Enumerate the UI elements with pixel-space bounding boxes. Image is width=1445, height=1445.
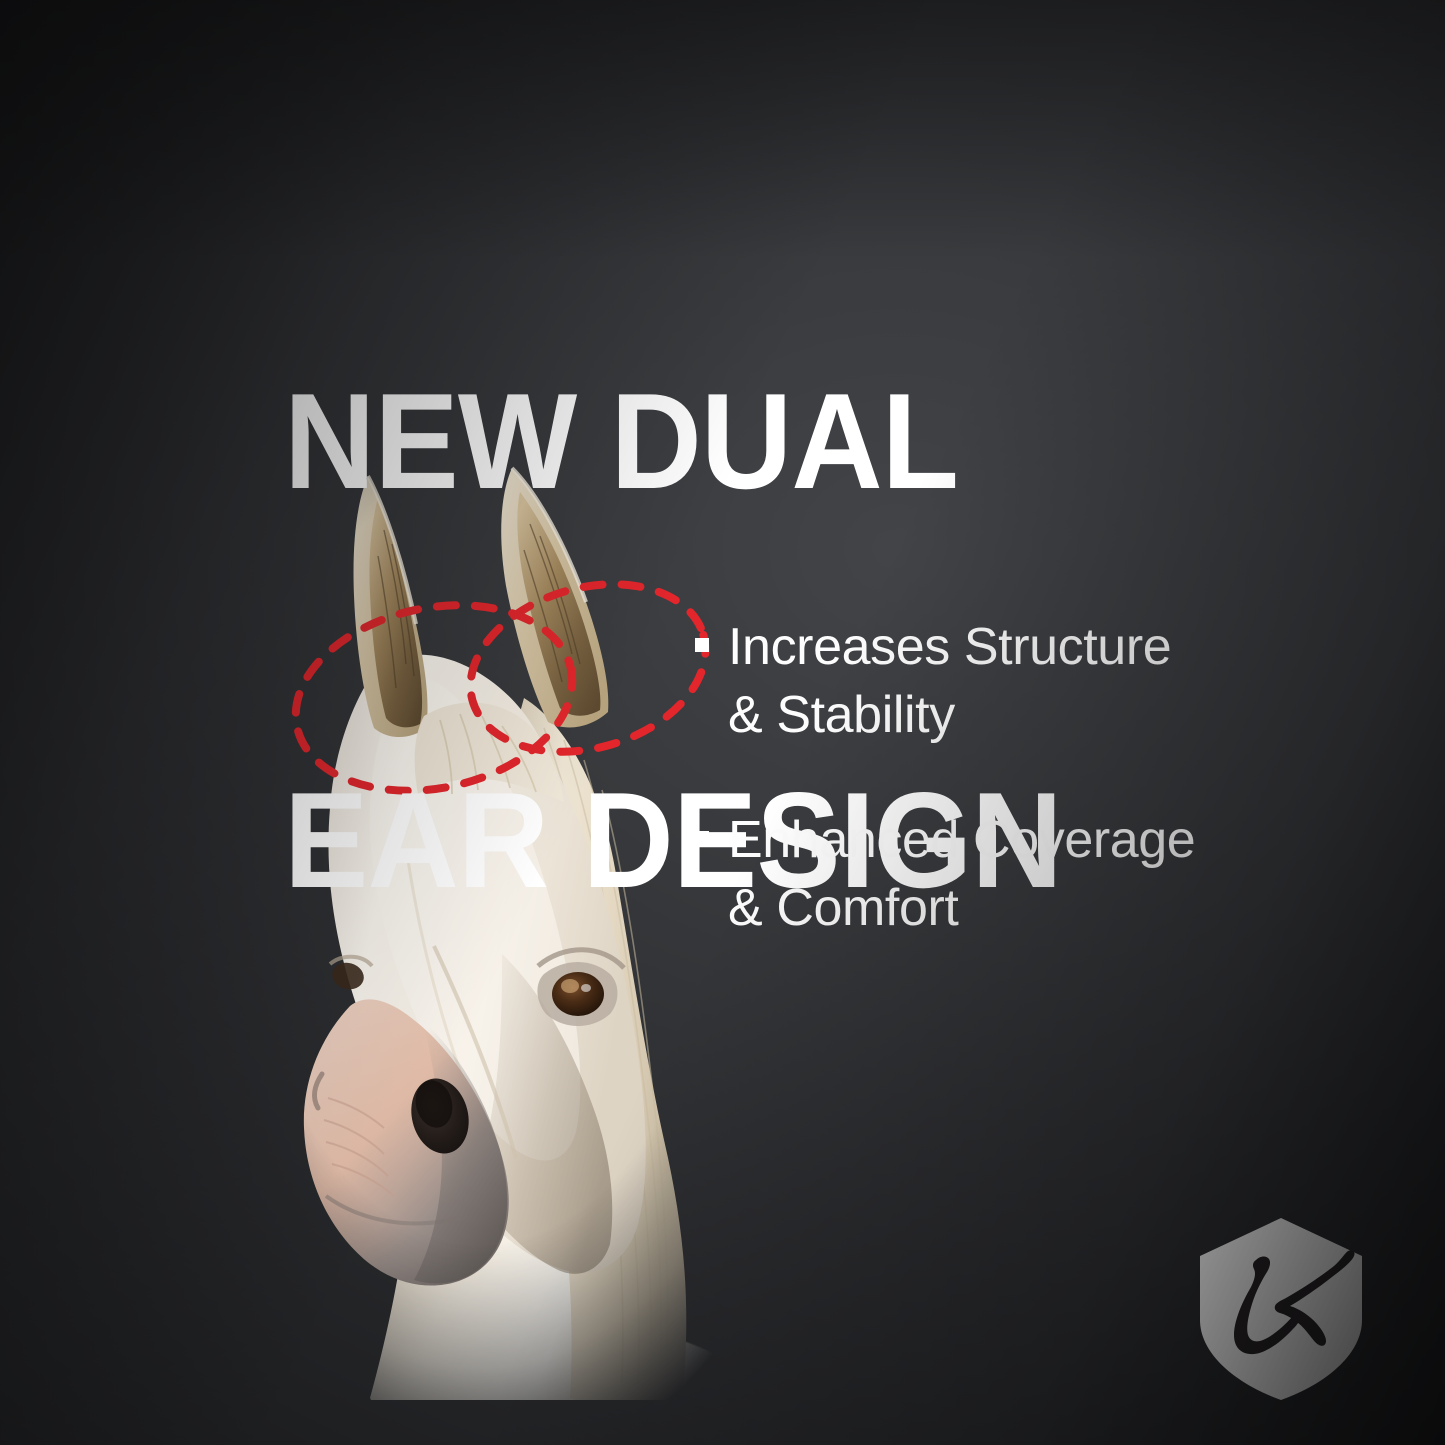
feature-line-2: & Comfort [728,879,958,937]
feature-text: Increases Structure & Stability [728,614,1171,749]
feature-text: Enhanced Coverage & Comfort [728,807,1195,942]
shield-logo-icon [1196,1216,1366,1402]
promo-graphic: NEW DUAL EAR DESIGN Increases Structure … [0,0,1445,1445]
feature-line-1: Increases Structure [728,618,1171,676]
brand-logo [1196,1216,1366,1402]
feature-line-1: Enhanced Coverage [728,811,1195,869]
feature-line-2: & Stability [728,686,955,744]
feature-list: Increases Structure & Stability Enhanced… [695,614,1355,1000]
square-bullet-icon [695,831,709,845]
list-item: Enhanced Coverage & Comfort [695,807,1355,942]
title-line-1: NEW DUAL [284,375,1158,508]
square-bullet-icon [695,638,709,652]
list-item: Increases Structure & Stability [695,614,1355,749]
